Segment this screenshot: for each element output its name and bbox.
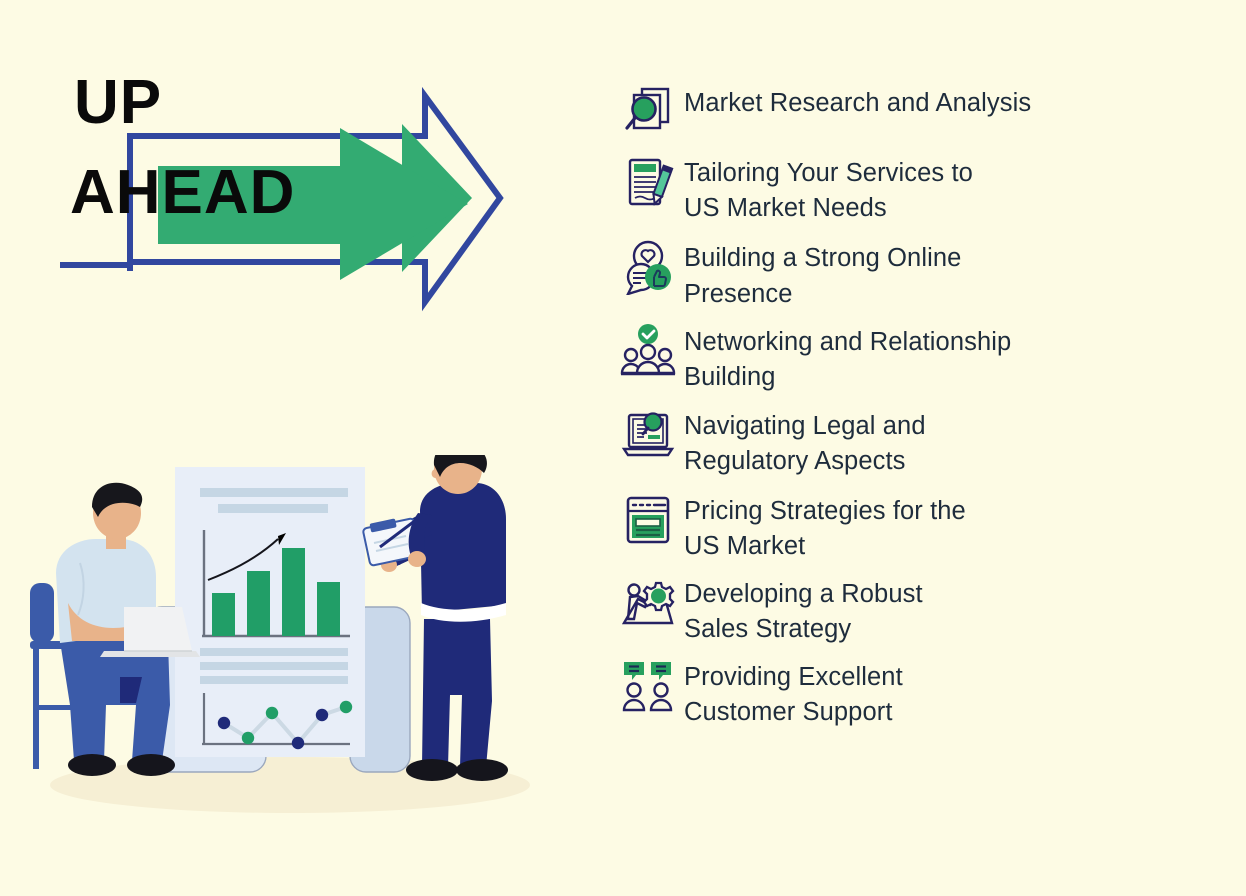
bar [282, 548, 305, 636]
doc-text-bar [200, 662, 348, 670]
bar [317, 582, 340, 636]
list-item-label: Pricing Strategies for the US Market [684, 492, 966, 564]
line-chart-point [218, 717, 230, 729]
line-chart-point [266, 707, 278, 719]
two-people-chat-icon [612, 658, 684, 714]
list-item[interactable]: Pricing Strategies for the US Market [612, 492, 1212, 564]
shoe [127, 754, 175, 776]
laptop-screen [124, 607, 192, 651]
speech-bubbles-thumbsup-icon [612, 239, 684, 295]
chair-back [30, 583, 54, 643]
trousers [422, 619, 492, 767]
shoe [406, 759, 458, 781]
doc-text-bar [218, 504, 328, 513]
list-item[interactable]: Networking and Relationship Building [612, 323, 1212, 395]
page-title-line-2: AHEAD [70, 162, 295, 224]
browser-window-icon [612, 492, 684, 548]
doc-text-bar [200, 488, 348, 497]
shoe [456, 759, 508, 781]
doc-text-bar [200, 676, 348, 684]
document-pencil-icon [612, 154, 684, 210]
trousers [60, 641, 170, 761]
person-pushing-gear-icon [612, 575, 684, 631]
shoe [68, 754, 116, 776]
agenda-list: Market Research and Analysis [612, 84, 1212, 744]
list-item-label: Navigating Legal and Regulatory Aspects [684, 407, 926, 479]
list-item[interactable]: Building a Strong Online Presence [612, 239, 1212, 311]
laptop-base [100, 651, 200, 657]
heading-block: UP AHEAD [70, 66, 540, 326]
list-item[interactable]: Developing a Robust Sales Strategy [612, 575, 1212, 647]
slide-root: UP AHEAD [0, 0, 1246, 896]
floor-shadow [50, 757, 530, 813]
page-title-line-1: UP [74, 72, 162, 134]
list-item-label: Developing a Robust Sales Strategy [684, 575, 923, 647]
list-item-label: Building a Strong Online Presence [684, 239, 961, 311]
bar [212, 593, 235, 636]
bar [247, 571, 270, 636]
line-chart-point [340, 701, 352, 713]
line-chart-point [242, 732, 254, 744]
list-item[interactable]: Tailoring Your Services to US Market Nee… [612, 154, 1212, 226]
list-item-label: Providing Excellent Customer Support [684, 658, 903, 730]
doc-text-bar [200, 648, 348, 656]
people-group-check-icon [612, 323, 684, 379]
list-item[interactable]: Providing Excellent Customer Support [612, 658, 1212, 730]
hand [408, 551, 426, 567]
list-item[interactable]: Navigating Legal and Regulatory Aspects [612, 407, 1212, 479]
line-chart-point [292, 737, 304, 749]
jacket [420, 483, 506, 613]
line-chart-point [316, 709, 328, 721]
list-item-label: Tailoring Your Services to US Market Nee… [684, 154, 973, 226]
laptop-magnifier-icon [612, 407, 684, 463]
business-analytics-illustration [20, 455, 560, 825]
list-item-label: Market Research and Analysis [684, 84, 1031, 121]
magnifier-documents-icon [612, 84, 684, 140]
gear-outline [644, 583, 673, 610]
list-item[interactable]: Market Research and Analysis [612, 84, 1212, 140]
list-item-label: Networking and Relationship Building [684, 323, 1011, 395]
